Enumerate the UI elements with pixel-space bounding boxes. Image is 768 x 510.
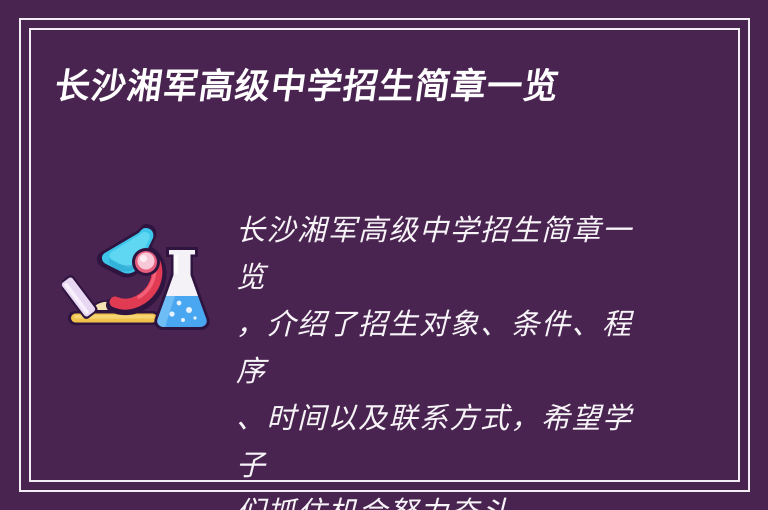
- body-line: 、时间以及联系方式，希望学子: [236, 395, 656, 489]
- microscope-slide-icon: [62, 274, 99, 321]
- body-line: 们抓住机会努力奋斗。: [236, 489, 656, 510]
- microscope-and-flask-illustration: [62, 218, 212, 343]
- body-line: 长沙湘军高级中学招生简章一览: [236, 207, 656, 301]
- body-paragraph: 长沙湘军高级中学招生简章一览 ，介绍了招生对象、条件、程序 、时间以及联系方式，…: [236, 207, 656, 510]
- page-title: 长沙湘军高级中学招生简章一览: [52, 66, 562, 108]
- body-line: ，介绍了招生对象、条件、程序: [236, 301, 656, 395]
- poster-canvas: 长沙湘军高级中学招生简章一览: [0, 0, 768, 510]
- microscope-focus-knob-icon: [132, 248, 160, 276]
